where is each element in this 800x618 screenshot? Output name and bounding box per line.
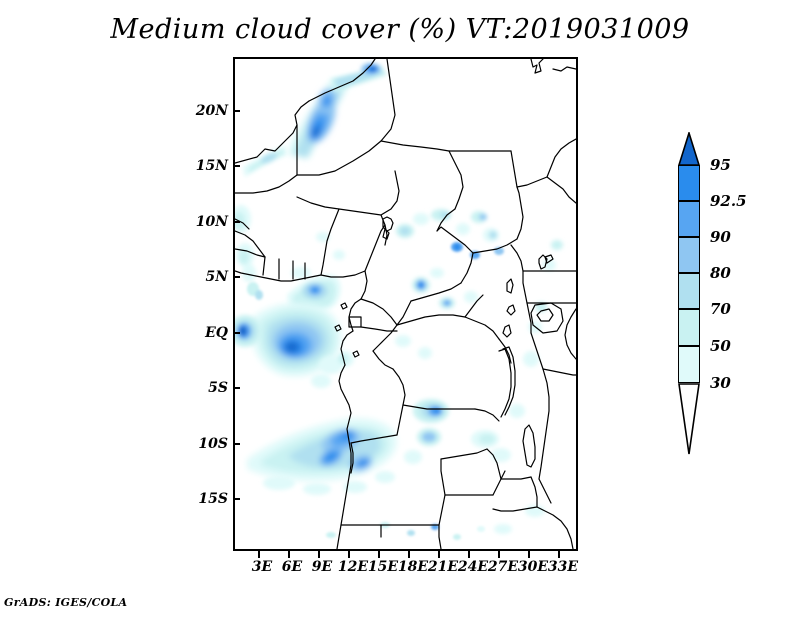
colorbar-label-70: 70 bbox=[710, 300, 731, 318]
colorbar-label-30: 30 bbox=[710, 374, 731, 392]
page-title: Medium cloud cover (%) VT:2019031009 bbox=[0, 14, 800, 45]
y-axis-label-7: 15S bbox=[198, 491, 228, 507]
x-axis-label-2: 9E bbox=[312, 559, 332, 575]
x-axis-label-9: 30E bbox=[518, 559, 548, 575]
y-axis-labels: 20N 15N 10N 5N EQ 5S 10S 15S bbox=[180, 0, 228, 618]
x-axis-label-8: 27E bbox=[488, 559, 518, 575]
x-axis-label-0: 3E bbox=[252, 559, 272, 575]
x-tick-33E bbox=[558, 551, 560, 558]
x-tick-6E bbox=[288, 551, 290, 558]
y-axis-label-5: 5S bbox=[208, 380, 228, 396]
x-axis-label-5: 18E bbox=[398, 559, 428, 575]
colorbar: 95 92.5 90 80 70 50 30 bbox=[672, 165, 704, 455]
x-tick-18E bbox=[408, 551, 410, 558]
x-tick-30E bbox=[528, 551, 530, 558]
colorbar-top-arrow bbox=[678, 132, 700, 166]
x-tick-15E bbox=[378, 551, 380, 558]
y-tick-10S bbox=[233, 443, 240, 445]
x-tick-9E bbox=[318, 551, 320, 558]
x-axis-label-4: 15E bbox=[368, 559, 398, 575]
colorbar-label-90: 90 bbox=[710, 228, 731, 246]
y-tick-5N bbox=[233, 276, 240, 278]
colorbar-label-50: 50 bbox=[710, 337, 731, 355]
colorbar-segment-70-80 bbox=[678, 273, 700, 309]
y-tick-EQ bbox=[233, 332, 240, 334]
y-axis-label-6: 10S bbox=[198, 436, 228, 452]
y-tick-20N bbox=[233, 110, 240, 112]
colorbar-label-80: 80 bbox=[710, 264, 731, 282]
y-axis-label-4: EQ bbox=[205, 325, 228, 341]
colorbar-segment-90-92.5 bbox=[678, 201, 700, 237]
y-axis-label-1: 15N bbox=[196, 158, 228, 174]
y-axis-label-3: 5N bbox=[205, 269, 228, 285]
map-plot-area bbox=[233, 57, 578, 551]
colorbar-bottom-arrow bbox=[678, 383, 700, 455]
x-tick-21E bbox=[438, 551, 440, 558]
x-tick-27E bbox=[498, 551, 500, 558]
x-tick-12E bbox=[348, 551, 350, 558]
x-axis-label-10: 33E bbox=[548, 559, 578, 575]
colorbar-segment-80-90 bbox=[678, 237, 700, 273]
y-tick-10N bbox=[233, 221, 240, 223]
x-tick-24E bbox=[468, 551, 470, 558]
x-axis-label-3: 12E bbox=[338, 559, 368, 575]
y-tick-15N bbox=[233, 165, 240, 167]
y-tick-15S bbox=[233, 498, 240, 500]
y-axis-label-2: 10N bbox=[196, 214, 228, 230]
map-canvas bbox=[235, 59, 576, 549]
colorbar-segment-92.5-95 bbox=[678, 165, 700, 201]
x-axis-label-7: 24E bbox=[458, 559, 488, 575]
colorbar-segment-50-70 bbox=[678, 309, 700, 346]
y-axis-label-0: 20N bbox=[196, 103, 228, 119]
x-axis-label-1: 6E bbox=[282, 559, 302, 575]
credit-text: GrADS: IGES/COLA bbox=[4, 596, 127, 609]
colorbar-segment-30-50 bbox=[678, 346, 700, 383]
x-tick-3E bbox=[258, 551, 260, 558]
colorbar-label-95: 95 bbox=[710, 156, 731, 174]
y-tick-5S bbox=[233, 387, 240, 389]
colorbar-label-92.5: 92.5 bbox=[710, 192, 747, 210]
x-axis-label-6: 21E bbox=[428, 559, 458, 575]
x-axis-labels: 3E 6E 9E 12E 15E 18E 21E 24E 27E 30E 33E bbox=[0, 559, 800, 583]
